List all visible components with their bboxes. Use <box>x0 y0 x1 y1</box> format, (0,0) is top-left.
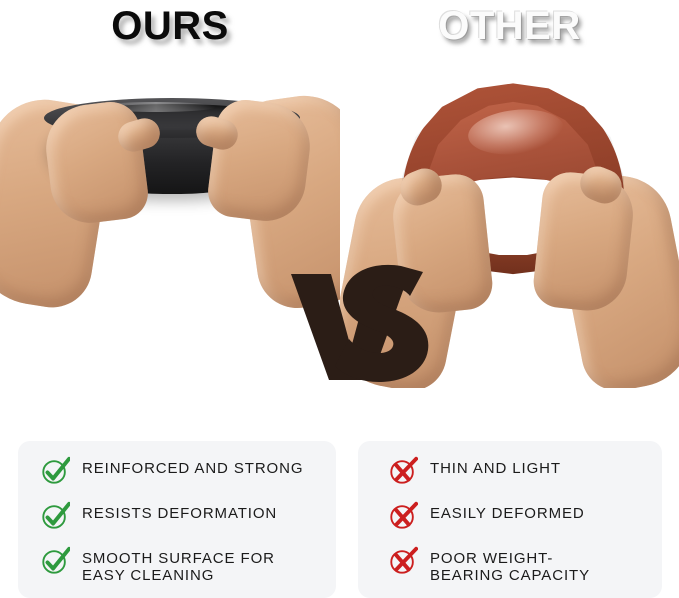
x-circle-icon <box>388 546 418 576</box>
comparison-infographic: OURS OTHER <box>0 0 679 598</box>
list-item-label: EASILY DEFORMED <box>430 500 585 522</box>
list-item-label: THIN AND LIGHT <box>430 455 561 477</box>
feature-list: REINFORCED AND STRONG RESISTS DEFORMATIO… <box>18 441 336 598</box>
list-item: RESISTS DEFORMATION <box>18 500 336 545</box>
list-item-label: POOR WEIGHT- BEARING CAPACITY <box>430 545 590 584</box>
benefits-panel-ours: REINFORCED AND STRONG RESISTS DEFORMATIO… <box>18 441 336 598</box>
check-circle-icon <box>40 546 70 576</box>
list-item: THIN AND LIGHT <box>358 455 662 500</box>
drawbacks-panel-other: THIN AND LIGHT EASILY DEFORMED <box>358 441 662 598</box>
list-item-label: RESISTS DEFORMATION <box>82 500 277 522</box>
list-item: EASILY DEFORMED <box>358 500 662 545</box>
product-photo-other <box>340 58 679 388</box>
x-circle-icon <box>388 456 418 486</box>
x-circle-icon <box>388 501 418 531</box>
check-circle-icon <box>40 501 70 531</box>
list-item: REINFORCED AND STRONG <box>18 455 336 500</box>
feature-list: THIN AND LIGHT EASILY DEFORMED <box>358 441 662 598</box>
heading-ours: OURS <box>0 0 340 56</box>
list-item: SMOOTH SURFACE FOR EASY CLEANING <box>18 545 336 590</box>
heading-other: OTHER <box>340 0 679 56</box>
product-photo-ours <box>0 58 340 388</box>
list-item-label: SMOOTH SURFACE FOR EASY CLEANING <box>82 545 275 584</box>
list-item-label: REINFORCED AND STRONG <box>82 455 303 477</box>
list-item: POOR WEIGHT- BEARING CAPACITY <box>358 545 662 590</box>
check-circle-icon <box>40 456 70 486</box>
